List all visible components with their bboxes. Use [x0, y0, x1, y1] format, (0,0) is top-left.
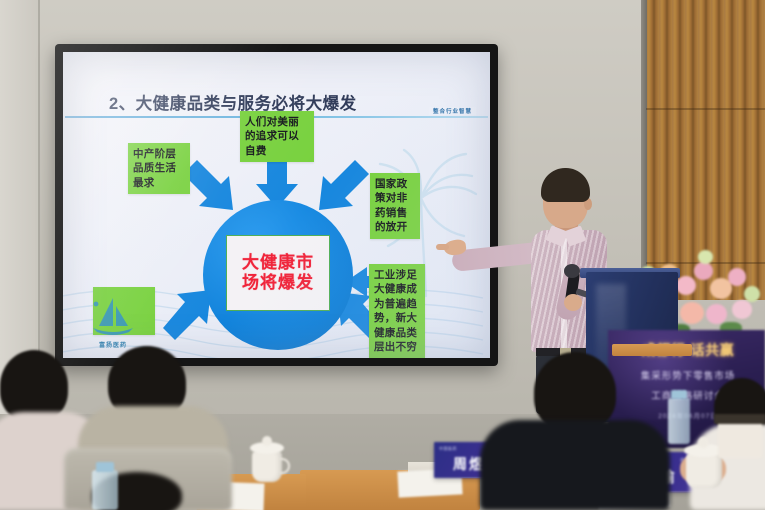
nameplate-logo-left: 中国医药	[439, 446, 457, 452]
audience-shoulders-center	[480, 420, 670, 510]
teacup-knob-right	[698, 437, 709, 448]
teacup-knob-left	[262, 436, 272, 446]
teacup-left	[252, 450, 282, 482]
tissue-box-lid	[714, 414, 765, 424]
screen-bezel-highlight	[55, 44, 498, 366]
bottle-cap-right	[671, 390, 687, 399]
water-bottle-right	[668, 398, 690, 444]
wood-wall-seam	[646, 108, 765, 110]
teacup-right	[686, 452, 722, 488]
bottle-cap-left	[96, 462, 114, 472]
conference-room-photo: 2、大健康品类与服务必将大爆发 整合行业智慧	[0, 0, 765, 510]
presenter-mic-hand	[564, 294, 582, 311]
presenter-hair	[541, 168, 590, 202]
presenter-index-finger	[436, 244, 449, 250]
table-side	[612, 344, 692, 356]
water-bottle-left	[92, 470, 118, 510]
presentation-screen: 2、大健康品类与服务必将大爆发 整合行业智慧	[55, 44, 498, 366]
microphone-head-icon	[564, 264, 580, 278]
tissue-box	[718, 420, 762, 458]
